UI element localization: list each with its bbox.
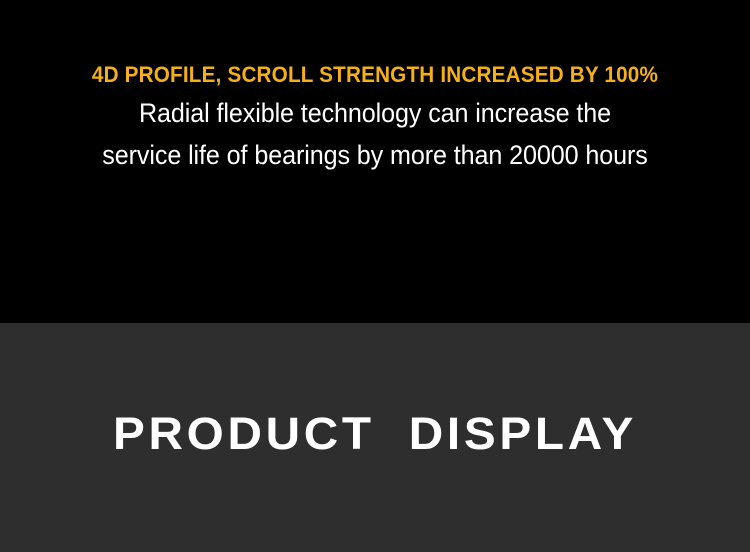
product-display-heading: PRODUCT DISPLAY: [0, 411, 750, 457]
product-banner-page: 4D PROFILE, SCROLL STRENGTH INCREASED BY…: [0, 0, 750, 552]
hero-banner: 4D PROFILE, SCROLL STRENGTH INCREASED BY…: [0, 0, 750, 323]
hero-subline-first: Radial flexible technology can increase …: [26, 94, 724, 132]
product-display-section: PRODUCT DISPLAY: [0, 323, 750, 552]
hero-text-block: 4D PROFILE, SCROLL STRENGTH INCREASED BY…: [0, 60, 750, 174]
hero-subline-second: service life of bearings by more than 20…: [26, 136, 724, 174]
hero-kicker-headline: 4D PROFILE, SCROLL STRENGTH INCREASED BY…: [23, 60, 728, 90]
product-display-title-wrap: PRODUCT DISPLAY: [0, 323, 750, 552]
